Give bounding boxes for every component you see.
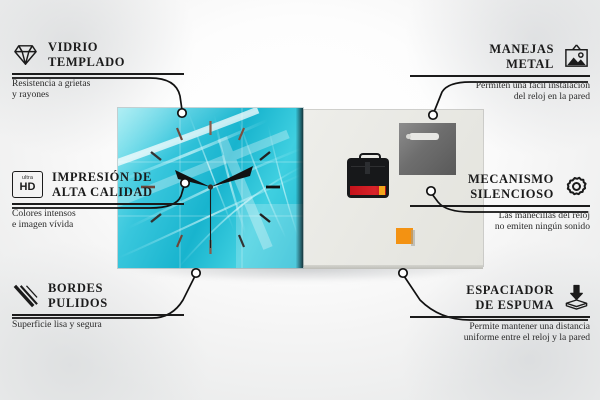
callout-title-line2: TEMPLADO: [48, 55, 125, 70]
callout-desc-line2: uniforme entre el reloj y la pared: [410, 332, 590, 344]
callout-rule: [12, 203, 184, 205]
diamond-icon: [12, 41, 39, 68]
ultra-hd-icon-label-bottom: HD: [20, 182, 36, 193]
callout-rule: [12, 73, 184, 75]
leader-endpoint-bordes: [192, 269, 200, 277]
callout-desc-line1: Superficie lisa y segura: [12, 319, 184, 331]
callout-rule: [410, 205, 590, 207]
callout-manejas-metal: MANEJAS METAL Permiten una fácil instala…: [410, 42, 590, 103]
callout-mecanismo-silencioso: MECANISMO SILENCIOSO Las manecillas del …: [410, 172, 590, 233]
leader-endpoint-manejas: [429, 111, 437, 119]
ultra-hd-icon: ultra HD: [12, 171, 43, 198]
callout-espaciador-espuma: ESPACIADOR DE ESPUMA Permite mantener un…: [410, 283, 590, 344]
callout-desc-line2: e imagen vívida: [12, 219, 184, 231]
press-foam-icon: [563, 284, 590, 311]
callout-title-line1: IMPRESIÓN DE: [52, 170, 153, 185]
polished-edge-icon: [12, 282, 39, 309]
callout-impresion-alta-calidad: ultra HD IMPRESIÓN DE ALTA CALIDAD Color…: [12, 170, 184, 231]
callout-desc-line1: Colores intensos: [12, 208, 184, 220]
callout-title-line1: ESPACIADOR: [466, 283, 554, 298]
picture-hanger-icon: [563, 43, 590, 70]
callout-vidrio-templado: VIDRIO TEMPLADO Resistencia a grietas y …: [12, 40, 184, 101]
callout-desc-line2: y rayones: [12, 89, 184, 101]
infographic-canvas: VIDRIO TEMPLADO Resistencia a grietas y …: [0, 0, 600, 400]
callout-rule: [410, 316, 590, 318]
callout-desc-line1: Resistencia a grietas: [12, 78, 184, 90]
callout-desc-line1: Permiten una fácil instalación: [410, 80, 590, 92]
callout-title-line2: DE ESPUMA: [466, 298, 554, 313]
callout-title-line2: METAL: [489, 57, 554, 72]
callout-desc-line1: Permite mantener una distancia: [410, 321, 590, 333]
callout-title-line2: ALTA CALIDAD: [52, 185, 153, 200]
callout-desc-line1: Las manecillas del reloj: [410, 210, 590, 222]
callout-title-line2: SILENCIOSO: [468, 187, 554, 202]
callout-title-line1: VIDRIO: [48, 40, 125, 55]
callout-bordes-pulidos: BORDES PULIDOS Superficie lisa y segura: [12, 281, 184, 330]
leader-endpoint-espaciador: [399, 269, 407, 277]
callout-title-line1: MANEJAS: [489, 42, 554, 57]
callout-title-line1: MECANISMO: [468, 172, 554, 187]
callout-desc-line2: del reloj en la pared: [410, 91, 590, 103]
callout-title-line2: PULIDOS: [48, 296, 108, 311]
callout-desc-line2: no emiten ningún sonido: [410, 221, 590, 233]
callout-title-line1: BORDES: [48, 281, 108, 296]
callout-rule: [410, 75, 590, 77]
gear-icon: [563, 173, 590, 200]
leader-endpoint-vidrio-templado: [178, 109, 186, 117]
callout-rule: [12, 314, 184, 316]
